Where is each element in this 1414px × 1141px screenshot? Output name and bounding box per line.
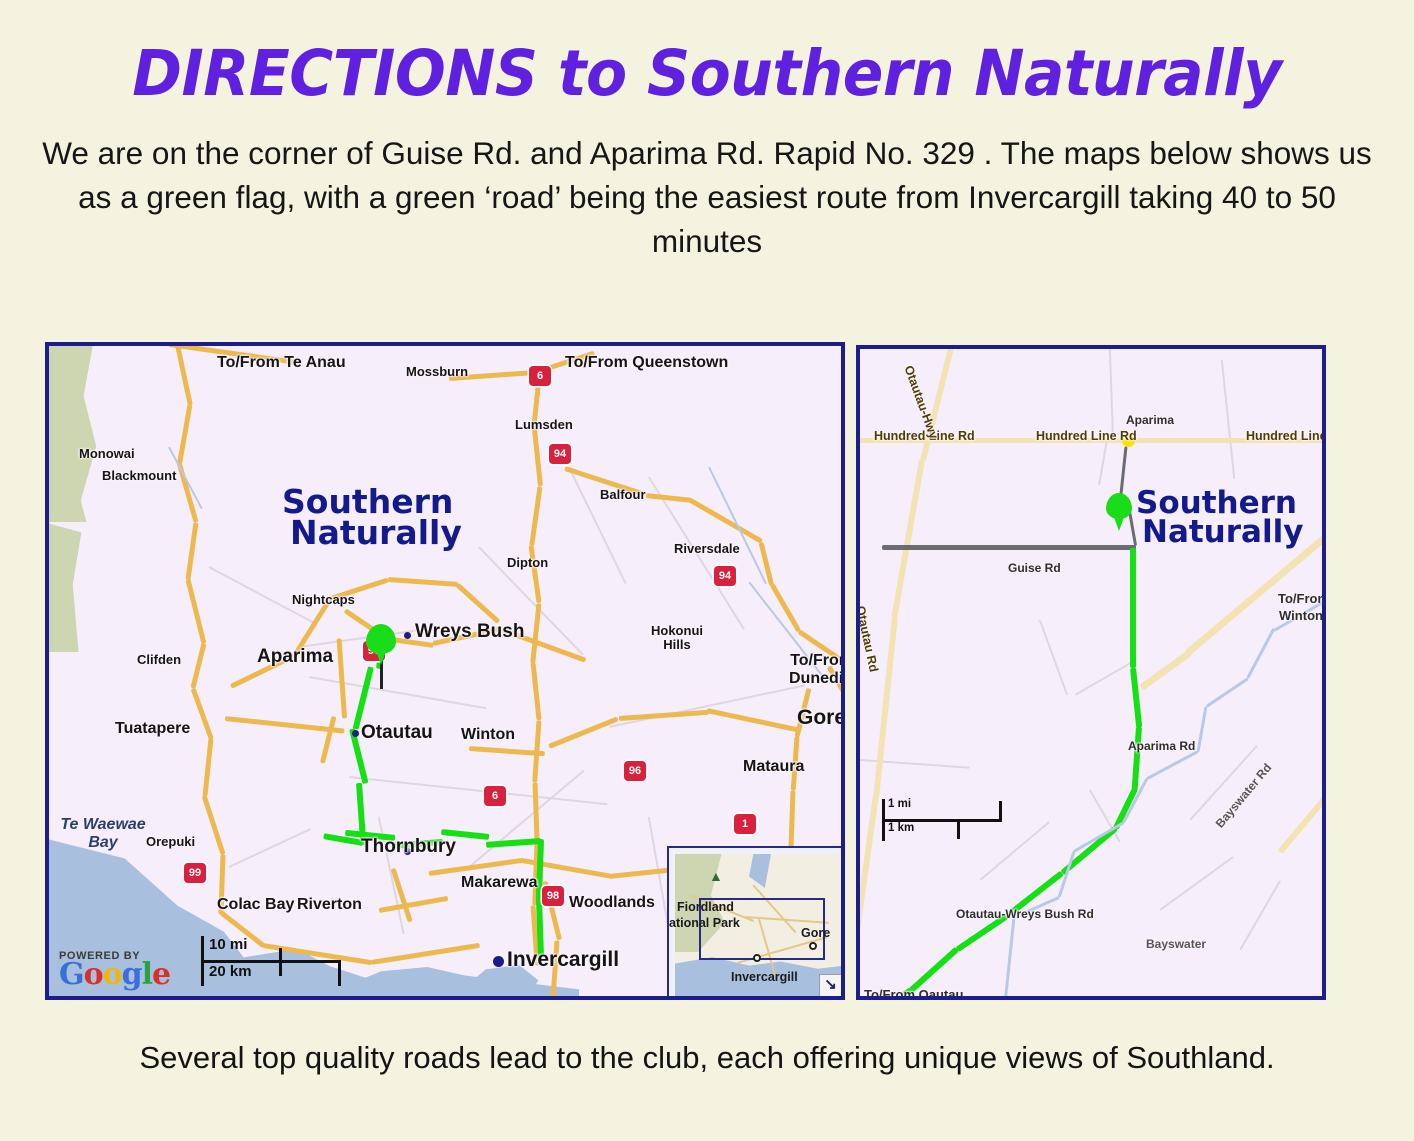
highway-shield-6: 6	[529, 366, 551, 386]
green-route-detail	[909, 947, 959, 993]
highway-96-cross	[706, 708, 801, 733]
city-dot-otautau	[352, 730, 359, 737]
otautau-rd-se	[1139, 650, 1192, 691]
highway-shield-6b: 6	[484, 786, 506, 806]
inset-label-gore: Gore	[801, 926, 830, 940]
highway-shield-94: 94	[549, 444, 571, 464]
regional-map-canvas: 6 94 94 96 96 6 1 98 99 Southern Natural…	[49, 346, 841, 996]
place-label-aparima-detail: Aparima	[1126, 413, 1174, 427]
highway-tuatapere	[225, 716, 345, 734]
highway-west	[185, 522, 198, 580]
highway-riversdale	[759, 542, 774, 586]
place-label-woodlands: Woodlands	[569, 894, 655, 912]
river-detail	[1004, 917, 1016, 1000]
highway-west	[175, 342, 193, 406]
highway-96-east	[432, 627, 502, 646]
otautau-rd-se	[1185, 535, 1326, 656]
aparima-junction-dot	[1122, 434, 1135, 447]
highway-dipton	[531, 662, 542, 720]
highway-west	[186, 579, 207, 644]
property-line	[1239, 880, 1280, 950]
river-detail	[1273, 599, 1326, 632]
footer-caption: Several top quality roads lead to the cl…	[0, 1040, 1414, 1076]
road-label-guise-rd: Guise Rd	[1008, 561, 1061, 575]
place-label-riverton: Riverton	[297, 896, 362, 914]
highway-west	[191, 688, 214, 740]
forest-area-west	[45, 342, 113, 522]
property-line	[1099, 436, 1109, 486]
highway-south-coast	[371, 943, 480, 965]
city-dot-wreys-bush	[404, 632, 411, 639]
guise-road	[882, 545, 1136, 550]
city-dot-invercargill	[493, 956, 504, 967]
river	[748, 581, 823, 677]
green-route-detail	[956, 914, 1009, 953]
highway-shield-98: 98	[542, 886, 564, 906]
inset-label-fiordland: Fiordland	[677, 900, 734, 914]
green-route	[441, 829, 489, 840]
place-label-tuatapere: Tuatapere	[115, 720, 190, 738]
highway-west	[177, 404, 192, 464]
detail-map-canvas: Southern Naturally Hundred Line Rd Hundr…	[860, 349, 1322, 996]
brand-line-2: Naturally	[1142, 518, 1303, 547]
detail-scale-bar: 1 mi 1 km	[882, 799, 1002, 843]
inset-sea-area-north	[749, 854, 771, 888]
place-label-dipton: Dipton	[507, 555, 548, 570]
google-logo: Google	[59, 960, 170, 990]
regional-scale-bar: 10 mi 20 km	[201, 934, 341, 988]
location-marker-pin[interactable]	[366, 624, 396, 654]
green-route-detail	[1132, 727, 1142, 791]
place-label-otautau: Otautau	[361, 722, 433, 744]
highway-teanau	[169, 342, 298, 365]
highway-loop	[230, 654, 295, 689]
otautau-hwy	[873, 617, 898, 797]
minor-road	[229, 828, 311, 867]
highway-queenstown	[568, 342, 622, 345]
scale-km: 20 km	[209, 963, 252, 980]
forest-area-southwest	[45, 522, 91, 652]
tree-icon: ▲	[709, 868, 723, 884]
highway-gore	[770, 583, 801, 632]
google-attribution: POWERED BY Google	[59, 950, 170, 990]
highway-west	[190, 643, 206, 689]
property-line	[1160, 856, 1234, 910]
gateway-label-te-anau: To/From Te Anau	[217, 354, 346, 372]
highway-thornbury	[379, 896, 449, 913]
highway-shield-1: 1	[734, 814, 756, 834]
detail-scale-miles: 1 mi	[888, 798, 911, 810]
property-line	[1075, 662, 1131, 695]
highway-loop	[292, 596, 333, 658]
highway-mataura	[791, 736, 800, 790]
river-detail	[1246, 628, 1275, 679]
otautau-hwy	[856, 795, 879, 954]
highway-aparima-south	[320, 716, 336, 764]
highway-aparima-south	[337, 638, 348, 718]
property-line	[1109, 346, 1114, 436]
otautau-rd-se2	[1278, 773, 1326, 853]
highway-west	[202, 795, 226, 856]
road-label-bayswater-rd: Bayswater Rd	[1213, 761, 1275, 831]
inset-dot-invercargill	[753, 954, 761, 962]
brand-label-regional: Southern Naturally	[282, 486, 462, 549]
river-detail	[1146, 750, 1199, 780]
highway-gore	[827, 665, 845, 702]
city-dot-thornbury	[404, 848, 411, 855]
green-route	[486, 838, 541, 848]
place-label-colac-bay: Colac Bay	[217, 896, 294, 914]
minor-road	[309, 676, 487, 709]
inset-dot-gore	[809, 942, 817, 950]
minor-road	[469, 770, 585, 868]
brand-line-1: Southern	[282, 486, 462, 517]
brand-line-2: Naturally	[290, 517, 462, 548]
place-label-blackmount: Blackmount	[102, 468, 176, 483]
scale-miles: 10 mi	[209, 936, 247, 953]
inset-label-invercargill: Invercargill	[731, 970, 798, 984]
highway-west	[218, 854, 225, 914]
highway-dipton	[530, 603, 541, 663]
place-label-winton: Winton	[461, 726, 515, 744]
place-label-makarewa: Makarewa	[461, 874, 538, 892]
highway-gore	[798, 629, 845, 667]
gateway-label-winton-detail: To/From Winton	[1278, 591, 1324, 625]
inset-overview-map[interactable]: ▲ Fiordland ational Park Gore Invercargi…	[667, 846, 843, 998]
place-label-riversdale: Riversdale	[674, 541, 740, 556]
sea-area-south	[349, 946, 579, 1000]
property-line	[1039, 619, 1068, 695]
place-label-bayswater: Bayswater	[1146, 937, 1206, 951]
resize-handle-icon[interactable]: ↘	[819, 974, 841, 996]
highway-loop	[455, 583, 500, 624]
highway-dipton	[532, 424, 543, 486]
highway-mataura	[788, 790, 795, 848]
place-label-clifden: Clifden	[137, 652, 181, 667]
inset-map-canvas: ▲ Fiordland ational Park Gore Invercargi…	[675, 854, 841, 996]
green-route-detail	[868, 988, 913, 1000]
highway-shield-99: 99	[184, 863, 206, 883]
highway-west	[202, 738, 213, 796]
river	[168, 447, 203, 510]
inset-label-national-park: ational Park	[669, 916, 740, 930]
highway-96-cross	[548, 716, 618, 748]
river-detail	[1206, 677, 1249, 707]
location-marker-pin-detail[interactable]	[1106, 493, 1132, 519]
highway-dipton	[529, 486, 542, 546]
green-route-detail	[1005, 871, 1064, 919]
green-route	[353, 666, 374, 730]
maps-row: 6 94 94 96 96 6 1 98 99 Southern Natural…	[0, 342, 1414, 1002]
minor-road	[209, 566, 316, 624]
brand-label-detail: Southern Naturally	[1136, 489, 1303, 548]
highway-96-cross	[619, 710, 709, 721]
green-route-detail	[1130, 548, 1136, 668]
river-detail	[1197, 706, 1208, 752]
detail-scale-km: 1 km	[888, 822, 914, 834]
intro-paragraph: We are on the corner of Guise Rd. and Ap…	[0, 105, 1414, 263]
highway-shield-96b: 96	[624, 761, 646, 781]
otautau-hwy	[891, 459, 925, 618]
page-title: DIRECTIONS to Southern Naturally	[35, 0, 1378, 105]
otautau-hwy	[920, 345, 955, 461]
brand-line-1: Southern	[1136, 489, 1303, 518]
highway-balfour	[646, 493, 692, 503]
minor-road	[609, 684, 805, 727]
green-route	[393, 839, 443, 848]
property-line	[1189, 745, 1257, 820]
regional-map[interactable]: 6 94 94 96 96 6 1 98 99 Southern Natural…	[45, 342, 845, 1000]
highway-loop	[388, 577, 458, 587]
highway-shield-94b: 94	[714, 566, 736, 586]
highway-dipton	[533, 782, 540, 842]
place-label-invercargill: Invercargill	[507, 948, 619, 972]
place-label-orepuki: Orepuki	[146, 834, 195, 849]
place-label-lumsden: Lumsden	[515, 417, 573, 432]
green-route-detail	[1130, 668, 1142, 728]
detail-map[interactable]: Southern Naturally Hundred Line Rd Hundr…	[856, 345, 1326, 1000]
highway-dipton	[529, 545, 542, 603]
property-line	[1221, 360, 1235, 479]
place-label-hokonui: Hokonui Hills	[647, 624, 707, 653]
highway-loop	[330, 578, 389, 601]
road-label-otautau-rd: Otautau Rd	[856, 605, 881, 674]
